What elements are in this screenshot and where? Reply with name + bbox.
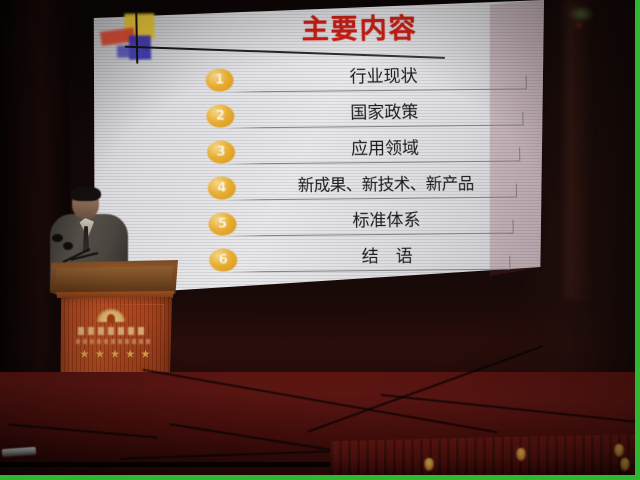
agenda-number-badge: 3 — [207, 141, 235, 164]
conference-photo: 主要内容 1行业现状2国家政策3应用领域4新成果、新技术、新产品5标准体系6结 … — [0, 0, 640, 480]
slide-content-plane: 主要内容 1行业现状2国家政策3应用领域4新成果、新技术、新产品5标准体系6结 … — [92, 0, 550, 300]
green-border-bottom — [0, 475, 640, 480]
exit-light-glow — [568, 6, 594, 22]
slide-logo — [98, 11, 175, 68]
agenda-row: 3应用领域 — [95, 135, 548, 176]
agenda-row: 4新成果、新技术、新产品 — [96, 171, 549, 212]
podium-star-rating — [80, 349, 150, 359]
slide-title: 主要内容 — [244, 6, 475, 47]
microphone-head-right — [63, 242, 73, 250]
podium-emblem-notch — [107, 314, 115, 323]
agenda-number-badge: 6 — [209, 248, 237, 271]
agenda-item-label: 行业现状 — [233, 63, 533, 90]
agenda-item-label: 标准体系 — [236, 207, 536, 234]
footlight — [516, 448, 526, 461]
green-border-right — [635, 0, 640, 480]
podium-star-icon — [126, 350, 135, 359]
podium-star-icon — [111, 350, 120, 359]
slide-agenda-list: 1行业现状2国家政策3应用领域4新成果、新技术、新产品5标准体系6结 语 — [93, 63, 549, 292]
footlight — [424, 458, 434, 471]
microphone-head-left — [52, 234, 63, 242]
agenda-number-badge: 4 — [208, 176, 236, 199]
projection-screen: 主要内容 1行业现状2国家政策3应用领域4新成果、新技术、新产品5标准体系6结 … — [92, 0, 544, 300]
footlight — [614, 444, 624, 457]
footlight — [620, 458, 630, 471]
agenda-row: 1行业现状 — [93, 63, 546, 104]
logo-horizontal-rule — [125, 46, 445, 59]
agenda-number-badge: 2 — [206, 105, 234, 128]
podium-star-icon — [95, 350, 104, 359]
podium-top-surface — [55, 266, 173, 288]
podium-star-icon — [141, 350, 150, 359]
podium-chinese-name — [78, 327, 148, 335]
red-indicator-light — [574, 22, 584, 29]
agenda-item-label: 应用领域 — [235, 135, 535, 162]
right-pillar — [560, 0, 592, 300]
agenda-item-label: 结 语 — [237, 243, 537, 270]
agenda-number-badge: 5 — [208, 212, 236, 235]
glasses-icon — [73, 199, 97, 205]
agenda-row: 5标准体系 — [96, 207, 549, 248]
podium-english-name — [76, 339, 152, 344]
agenda-number-badge: 1 — [205, 69, 233, 92]
podium-star-icon — [80, 350, 89, 359]
agenda-item-label: 国家政策 — [234, 99, 534, 126]
agenda-item-label: 新成果、新技术、新产品 — [236, 171, 536, 198]
agenda-row: 2国家政策 — [94, 99, 547, 140]
